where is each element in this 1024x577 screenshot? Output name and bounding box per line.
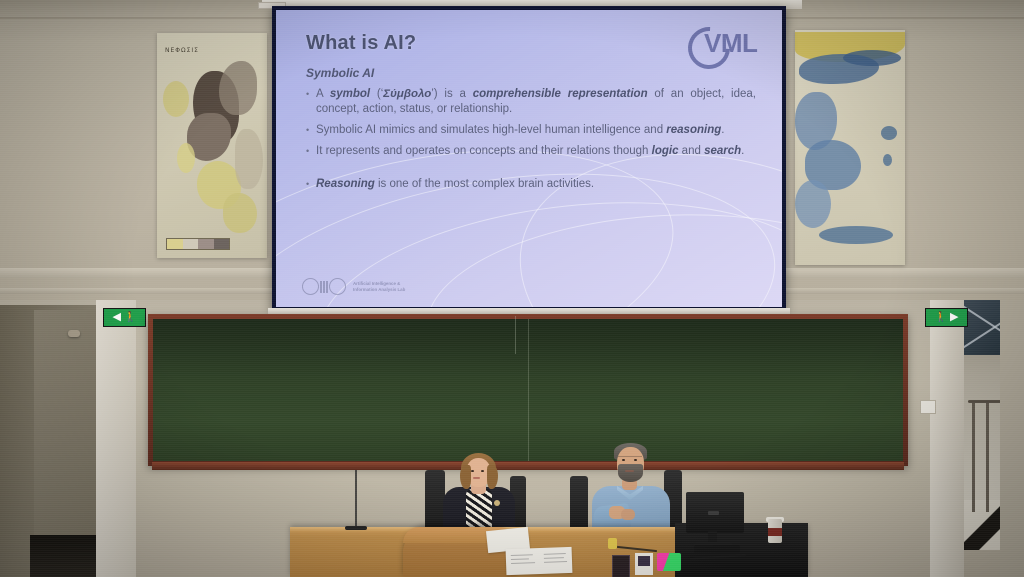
bullet-dot-icon: • [306,123,316,138]
slide-bullet: •A symbol (‘Σύμβολο’) is a comprehensibl… [306,87,756,117]
woman-mouth [473,477,480,479]
chalkboard-surface [153,319,903,461]
aiia-lab-text: Artificial Intelligence & Information An… [353,281,405,292]
corridor-wall [1000,300,1024,577]
sticky-notes[interactable] [657,553,681,571]
left-pillar [96,300,136,577]
exit-sign-right: 🚶 ▶ [925,308,968,327]
woman-eye-left [471,470,474,472]
slide-subtitle: Symbolic AI [306,66,756,80]
chalkboard-seam [528,319,529,461]
chair-left [425,470,445,532]
arrow-left-icon: ◀ [113,312,121,323]
coffee-cup-band [768,528,782,536]
aiia-line-2: Information Analysis Lab [353,287,405,293]
aiia-mark-icon [302,278,346,295]
chalkboard [148,314,908,466]
slide-bullet-text: It represents and operates on concepts a… [316,144,756,159]
slide-bullet: •Symbolic AI mimics and simulates high-l… [306,123,756,138]
woman-hair-left [460,465,471,489]
yellow-marker[interactable] [608,538,617,549]
slide-bullet-text: A symbol (‘Σύμβολο’) is a comprehensible… [316,87,756,117]
slide-title: What is AI? [306,32,756,55]
chalk-tray [152,462,904,470]
man-eye-left [622,459,625,461]
slide-bullet-text: Symbolic AI mimics and simulates high-le… [316,123,756,138]
business-card-dark[interactable] [612,555,630,577]
map-left-label: ΝΕΦΩΣΙΣ [165,47,199,54]
presentation-slide: VML What is AI? Symbolic AI •A symbol (‘… [276,10,782,307]
printed-handout[interactable] [506,547,573,575]
keyboard[interactable] [694,545,740,553]
running-person-icon: 🚶 [124,313,136,323]
business-card-light[interactable] [635,553,653,575]
man-hand-right [621,509,635,520]
wall-map-left: ΝΕΦΩΣΙΣ [157,33,267,258]
left-floor-tile [30,535,102,577]
right-pillar [930,300,964,577]
map-left-legend [166,238,230,250]
exit-sign-left: ◀ 🚶 [103,308,146,327]
lecture-hall-scene: ΝΕΦΩΣΙΣ ◀ 🚶 🚶 ▶ [0,0,1024,577]
bullet-dot-icon: • [306,87,316,117]
arrow-right-icon: ▶ [950,312,958,323]
railing-post [986,402,989,512]
slide-bullet-list: •A symbol (‘Σύμβολο’) is a comprehensibl… [306,87,756,192]
bullet-dot-icon: • [306,144,316,159]
microphone-base [345,526,367,530]
slide-bullet-text: Reasoning is one of the most complex bra… [316,177,756,192]
left-door-panel [34,310,100,570]
man-eye-right [634,459,637,461]
man-mouth [625,470,634,472]
slide-bullet: •It represents and operates on concepts … [306,144,756,159]
bullet-dot-icon: • [306,177,316,192]
slide-bullet: •Reasoning is one of the most complex br… [306,177,756,192]
monitor-logo [708,511,719,515]
microphone-stand [355,470,357,528]
aiia-line-1: Artificial Intelligence & [353,281,405,287]
door-handle[interactable] [68,330,80,337]
running-person-icon: 🚶 [935,313,947,323]
woman-eye-right [481,470,484,472]
wall-fixture-box [920,400,936,414]
woman-lapel-pin [494,500,500,506]
man-beard [618,464,643,482]
railing-post [972,402,975,512]
chair-right-back [570,476,588,532]
chalkboard-hook [515,316,516,354]
projection-screen: VML What is AI? Symbolic AI •A symbol (‘… [272,6,786,311]
aiia-lab-logo: Artificial Intelligence & Information An… [302,278,405,295]
wall-map-right [795,30,905,265]
